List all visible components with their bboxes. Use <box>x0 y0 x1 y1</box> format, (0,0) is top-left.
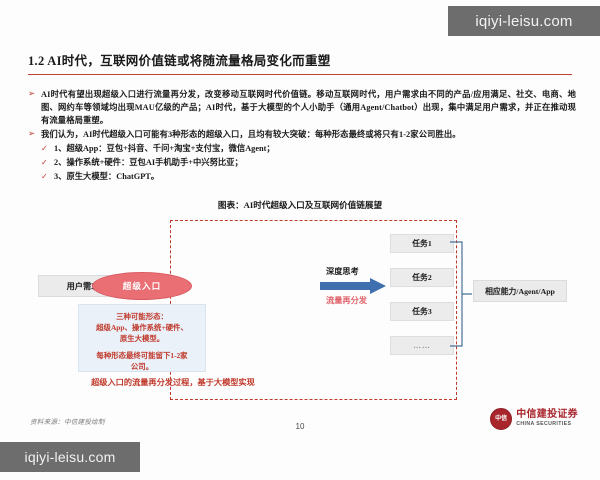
bullet-text: AI时代有望出现超级入口进行流量再分发，改变移动互联网时代价值链。移动互联网时代… <box>41 88 576 127</box>
sub-bullet-item: ✓ 1、超级App：豆包+抖音、千问+淘宝+支付宝，微信Agent； <box>28 142 576 155</box>
task-box: 任务1 <box>390 234 454 253</box>
check-marker-icon: ✓ <box>41 170 54 183</box>
bullet-paragraph: ➢ AI时代有望出现超级入口进行流量再分发，改变移动互联网时代价值链。移动互联网… <box>28 88 576 127</box>
traffic-redistribution-label: 流量再分发 <box>326 294 367 306</box>
title-divider <box>28 74 572 75</box>
flow-arrow-mid-icon <box>320 278 386 294</box>
info-line-3: 原生大模型。 <box>83 333 201 344</box>
info-line-5: 公司。 <box>83 361 201 372</box>
slide-page: iqiyi-leisu.com iqiyi-leisu.com 1.2 AI时代… <box>0 0 600 480</box>
figure-title-text: 图表：AI时代超级入口及互联网价值链展望 <box>218 199 382 211</box>
bullet-marker-icon: ➢ <box>28 88 41 101</box>
watermark-bottom: iqiyi-leisu.com <box>0 442 140 472</box>
task-box: 任务2 <box>390 268 454 287</box>
page-title: 1.2 AI时代，互联网价值链或将随流量格局变化而重塑 <box>28 50 331 69</box>
bullet-text: 我们认为，AI时代超级入口可能有3种形态的超级入口，且均有较大突破：每种形态最终… <box>41 128 576 141</box>
grouping-brace-icon <box>450 236 472 352</box>
capability-label: 相应能力/Agent/App <box>473 280 567 302</box>
task-box: 任务3 <box>390 302 454 321</box>
sub-bullet-text: 2、操作系统+硬件：豆包AI手机助手+中兴努比亚； <box>54 156 576 169</box>
bullet-marker-icon: ➢ <box>28 128 41 141</box>
info-line-4: 每种形态最终可能留下1-2家 <box>83 350 201 361</box>
sub-bullet-item: ✓ 3、原生大模型：ChatGPT。 <box>28 170 576 183</box>
logo-english-name: CHINA SECURITIES <box>516 422 578 427</box>
bullet-paragraph: ➢ 我们认为，AI时代超级入口可能有3种形态的超级入口，且均有较大突破：每种形态… <box>28 128 576 141</box>
info-box: 三种可能形态： 超级App、操作系统+硬件、 原生大模型。 每种形态最终可能留下… <box>78 304 206 372</box>
company-logo: 中信 中信建投证券 CHINA SECURITIES <box>490 408 578 430</box>
body-content: ➢ AI时代有望出现超级入口进行流量再分发，改变移动互联网时代价值链。移动互联网… <box>28 88 576 184</box>
sub-bullet-text: 1、超级App：豆包+抖音、千问+淘宝+支付宝，微信Agent； <box>54 142 576 155</box>
info-line-2: 超级App、操作系统+硬件、 <box>83 322 201 333</box>
watermark-top: iqiyi-leisu.com <box>448 6 600 36</box>
figure-title: 图表：AI时代超级入口及互联网价值链展望 <box>0 199 600 211</box>
check-marker-icon: ✓ <box>41 142 54 155</box>
sub-bullet-text: 3、原生大模型：ChatGPT。 <box>54 170 576 183</box>
figure-diagram: 用户需求 超级入口 三种可能形态： 超级App、操作系统+硬件、 原生大模型。 … <box>30 218 570 403</box>
check-marker-icon: ✓ <box>41 156 54 169</box>
logo-chinese-name: 中信建投证券 <box>516 410 578 420</box>
sub-bullet-item: ✓ 2、操作系统+硬件：豆包AI手机助手+中兴努比亚； <box>28 156 576 169</box>
logo-seal-icon: 中信 <box>490 408 512 430</box>
super-entry-ellipse: 超级入口 <box>92 272 192 300</box>
task-box: …… <box>390 336 454 355</box>
deep-thinking-label: 深度思考 <box>326 265 359 277</box>
info-line-1: 三种可能形态： <box>83 311 201 322</box>
figure-red-caption: 超级入口的流量再分发过程，基于大模型实现 <box>50 376 296 388</box>
